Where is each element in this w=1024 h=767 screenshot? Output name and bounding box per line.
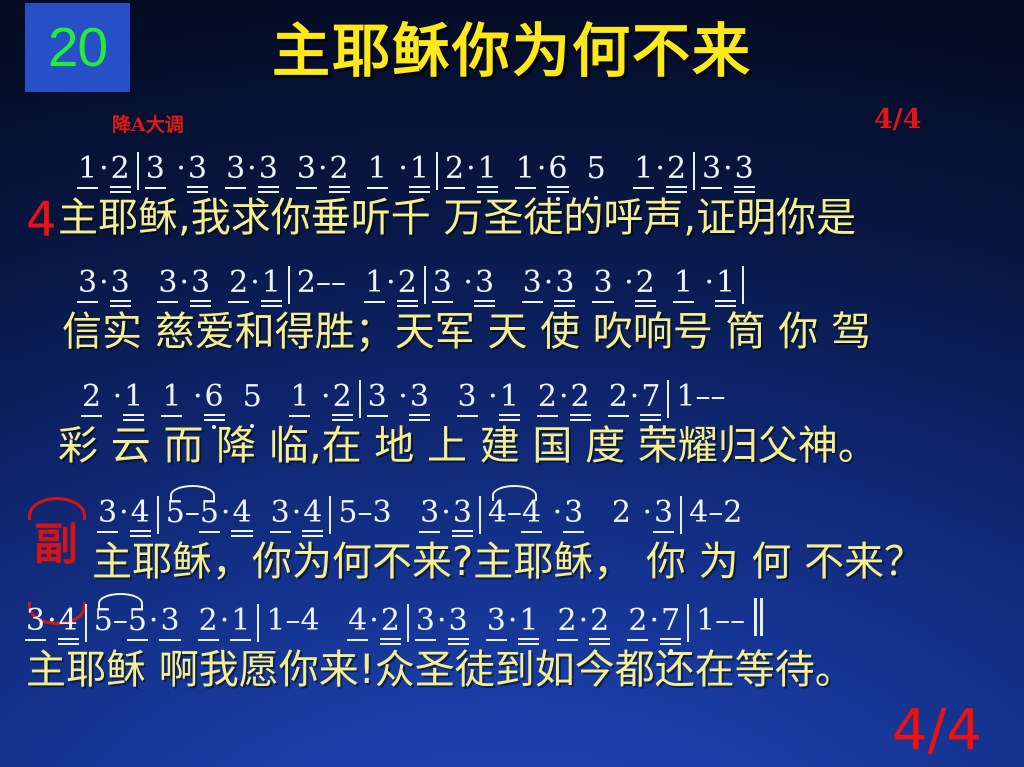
key-signature: 降A大调 [112,110,184,137]
time-signature-top: 4/4 [874,104,921,135]
notation-line-1: 1·2 3 ·3 3·3 3·2 1 ·1 2·1 1·6 5 1·2 3·3 [0,148,1024,194]
notation-line-4: 3·4 5–5·4 3·4 5–3 3·3 4–4 ·3 2 ·3 4–2 [0,492,1024,538]
slide-canvas: 20 主耶稣你为何不来 降A大调 4/4 4 副 1·2 3 ·3 3·3 3·… [0,0,1024,767]
lyric-line-1: 主耶稣,我求你垂听千 万圣徒的呼声,证明你是 [0,198,1024,238]
final-double-barline-icon [751,598,763,642]
system-5: 3·4 5–5·3 2·1 1–4 4·2 3·3 3·1 2·2 2·7 1–… [0,600,1024,690]
lyric-line-4: 主耶稣，你为何不来?主耶稣， 你 为 何 不来？ [0,542,1024,582]
system-1: 1·2 3 ·3 3·3 3·2 1 ·1 2·1 1·6 5 1·2 3·3 … [0,148,1024,238]
lyric-line-3: 彩 云 而 降 临,在 地 上 建 国 度 荣耀归父神。 [0,426,1024,466]
lyric-line-5: 主耶稣 啊我愿你来!众圣徒到如今都还在等待。 [0,650,1024,690]
system-4: 3·4 5–5·4 3·4 5–3 3·3 4–4 ·3 2 ·3 4–2 主耶… [0,492,1024,582]
system-3: 2 ·1 1 ·6 5 1 ·2 3 ·3 3 ·1 2·2 2·7 1–– 彩… [0,376,1024,466]
system-2: 3·3 3·3 2·1 2–– 1·2 3 ·3 3·3 3 ·2 1 ·1 信… [0,262,1024,352]
notation-line-2: 3·3 3·3 2·1 2–– 1·2 3 ·3 3·3 3 ·2 1 ·1 [0,262,1024,308]
notation-line-3: 2 ·1 1 ·6 5 1 ·2 3 ·3 3 ·1 2·2 2·7 1–– [0,376,1024,422]
lyric-line-2: 信实 慈爱和得胜；天军 天 使 吹响号 筒 你 驾 [0,312,1024,352]
page-title: 主耶稣你为何不来 [0,22,1024,80]
time-signature-bottom: 4/4 [892,703,982,759]
notation-line-5: 3·4 5–5·3 2·1 1–4 4·2 3·3 3·1 2·2 2·7 1–… [0,600,1024,646]
